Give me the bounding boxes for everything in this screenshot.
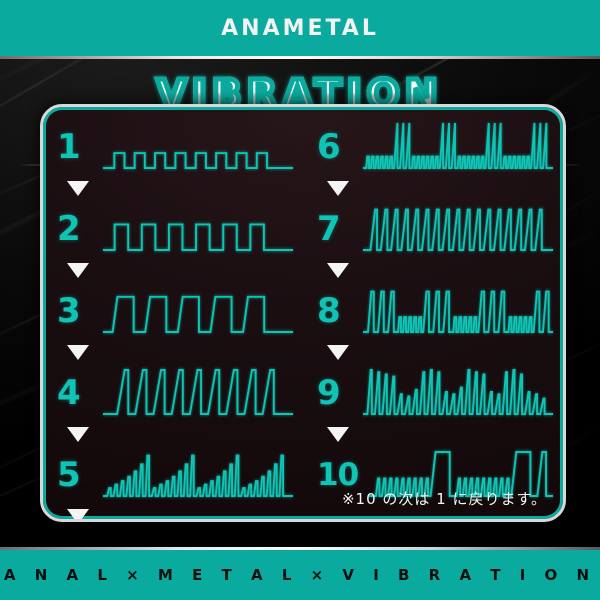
- vibration-column-left: 12345: [43, 107, 303, 522]
- vibration-mode-row[interactable]: 8: [317, 285, 553, 337]
- header-bar: ANAMETAL: [0, 0, 600, 56]
- vibration-mode-row[interactable]: 9: [317, 367, 553, 419]
- footer-divider: [0, 547, 600, 550]
- brand-logo: ANAMETAL: [221, 16, 379, 41]
- triangle-down-icon: [67, 509, 89, 523]
- vibration-mode-number: 8: [317, 294, 363, 328]
- triangle-down-icon: [327, 263, 349, 278]
- header-divider: [0, 56, 600, 59]
- vibration-mode-row[interactable]: 7: [317, 203, 553, 255]
- vibration-mode-number: 4: [57, 376, 103, 410]
- waveform-uniform-dense-pulse: [363, 204, 553, 254]
- triangle-down-icon: [327, 345, 349, 360]
- waveform-slow-wide-pulse: [103, 286, 293, 336]
- app-root: ANAMETAL VIBRATION 12345 678910 ※10 の次は …: [0, 0, 600, 600]
- vibration-mode-number: 7: [317, 212, 363, 246]
- vibration-mode-number: 6: [317, 130, 363, 164]
- triangle-down-icon: [67, 263, 89, 278]
- next-mode-arrow: [57, 337, 293, 367]
- triangle-down-icon: [67, 181, 89, 196]
- next-mode-arrow: [317, 419, 553, 449]
- waveform-low-pulse-with-spikes: [363, 122, 553, 172]
- vibration-mode-row[interactable]: 1: [57, 121, 293, 173]
- vibration-mode-number: 9: [317, 376, 363, 410]
- next-mode-arrow: [57, 255, 293, 285]
- vibration-mode-number: 5: [57, 458, 103, 492]
- vibration-mode-row[interactable]: 5: [57, 449, 293, 501]
- waveform-alternating-tall-short: [363, 286, 553, 336]
- vibration-mode-row[interactable]: 2: [57, 203, 293, 255]
- next-mode-arrow: [317, 173, 553, 203]
- next-mode-arrow: [317, 255, 553, 285]
- next-mode-arrow: [57, 173, 293, 203]
- waveform-fast-narrow-pulse: [103, 122, 293, 172]
- waveform-crescendo-ramp: [103, 450, 293, 500]
- vibration-grid: 12345 678910: [43, 107, 563, 519]
- vibration-mode-row[interactable]: 4: [57, 367, 293, 419]
- vibration-mode-number: 3: [57, 294, 103, 328]
- vibration-column-right: 678910: [303, 107, 563, 522]
- footer-bar: A N A L × M E T A L × V I B R A T I O N: [0, 550, 600, 600]
- next-mode-arrow: [57, 501, 293, 522]
- vibration-mode-row[interactable]: 6: [317, 121, 553, 173]
- waveform-dense-varying-height: [363, 368, 553, 418]
- triangle-down-icon: [327, 427, 349, 442]
- waveform-tall-sawtooth-burst: [103, 368, 293, 418]
- triangle-down-icon: [67, 345, 89, 360]
- vibration-mode-number: 10: [317, 460, 369, 491]
- loop-note: ※10 の次は 1 に戻ります。: [342, 488, 547, 509]
- triangle-down-icon: [67, 427, 89, 442]
- waveform-medium-square-pulse: [103, 204, 293, 254]
- next-mode-arrow: [317, 337, 553, 367]
- next-mode-arrow: [57, 419, 293, 449]
- vibration-mode-row[interactable]: 3: [57, 285, 293, 337]
- vibration-mode-number: 2: [57, 212, 103, 246]
- vibration-mode-number: 1: [57, 130, 103, 164]
- footer-tagline: A N A L × M E T A L × V I B R A T I O N: [4, 566, 596, 584]
- vibration-modes-panel: 12345 678910 ※10 の次は 1 に戻ります。: [40, 104, 566, 522]
- triangle-down-icon: [327, 181, 349, 196]
